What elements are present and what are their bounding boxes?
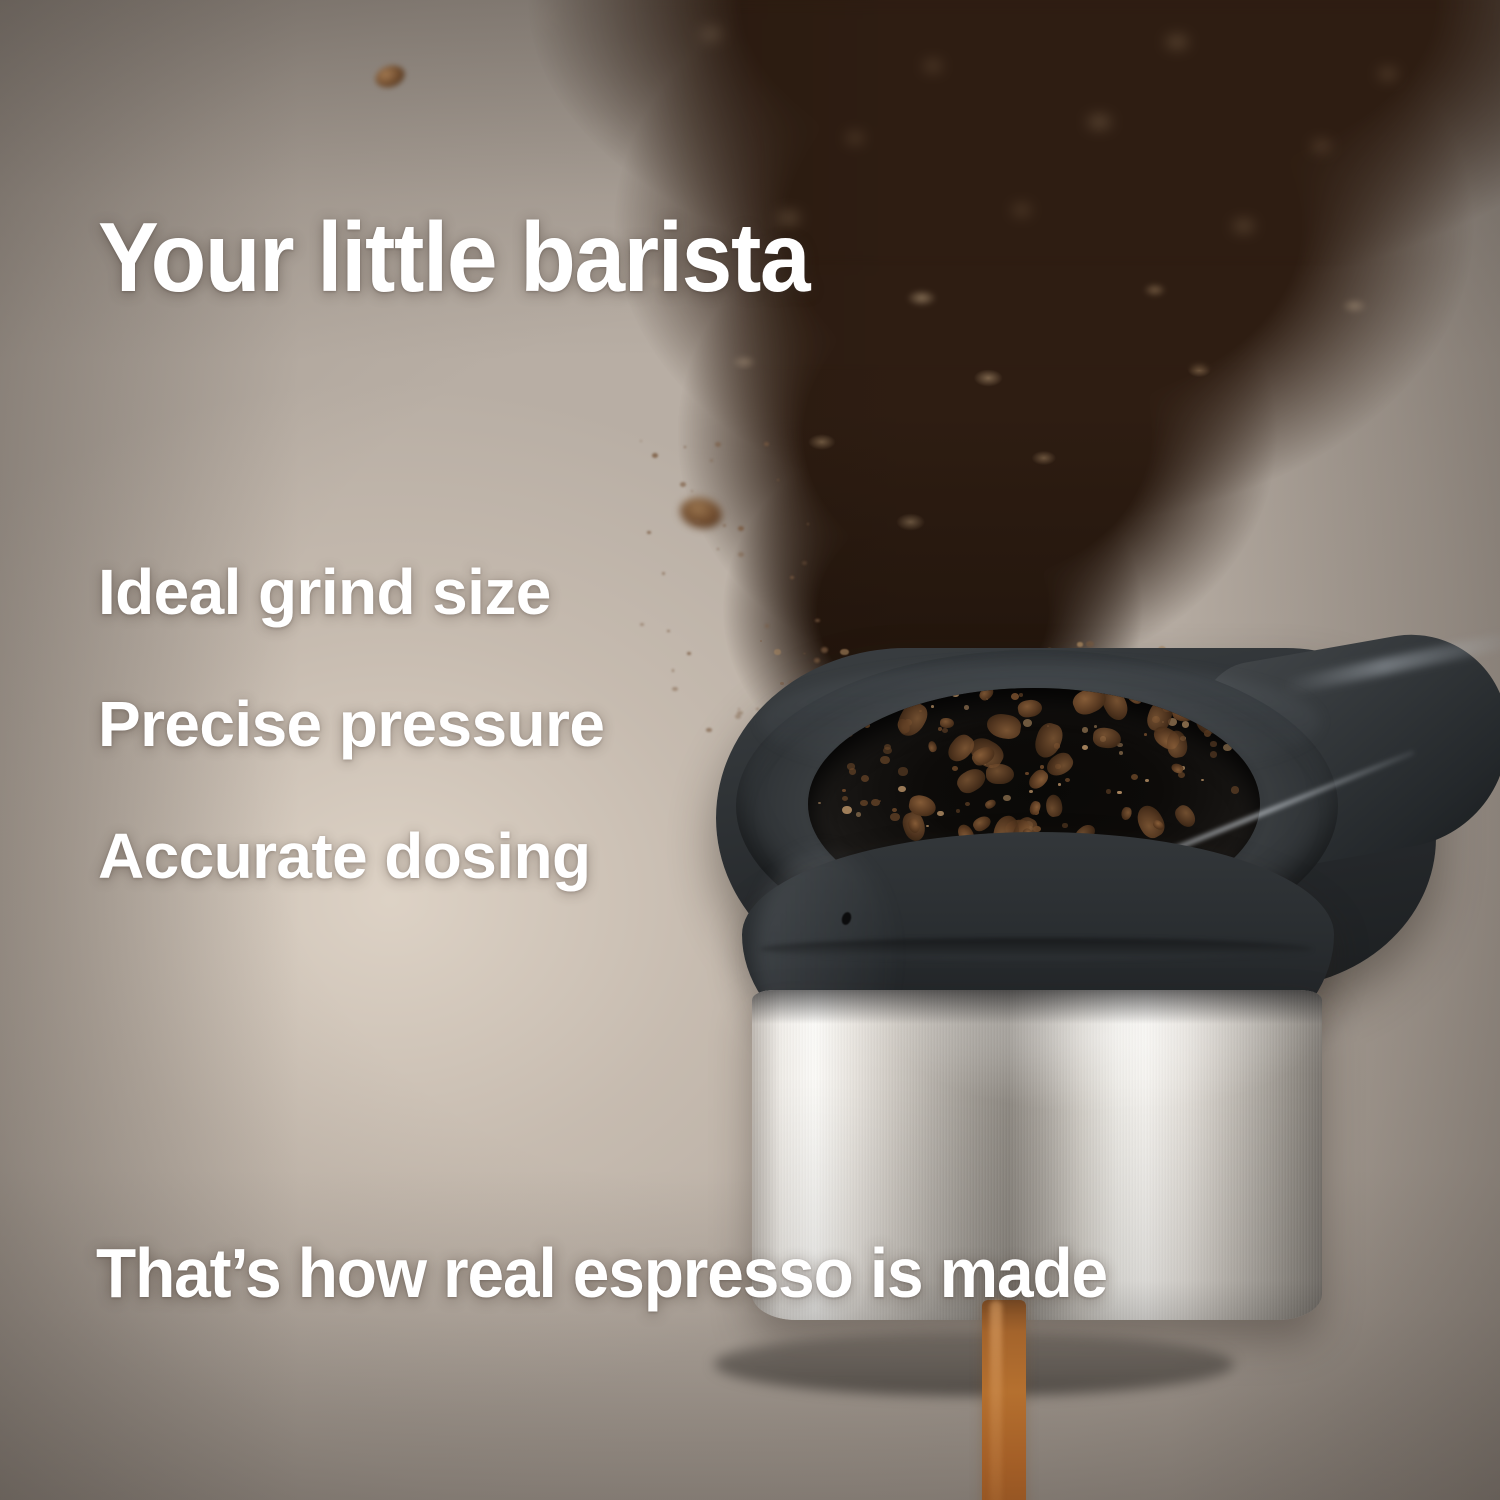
- cavity-ground-chunk: [1120, 807, 1132, 822]
- cavity-ground-chunk: [1044, 793, 1063, 817]
- feature-item-dosing: Accurate dosing: [98, 824, 818, 888]
- cavity-ground-particle: [1223, 744, 1232, 752]
- feature-list: Ideal grind size Precise pressure Accura…: [98, 560, 818, 888]
- cavity-ground-particle: [1242, 710, 1251, 718]
- page-title: Your little barista: [98, 208, 809, 306]
- cavity-ground-particle: [885, 700, 892, 706]
- cavity-ground-particle: [851, 717, 857, 722]
- cavity-ground-particle: [1182, 721, 1189, 727]
- cavity-ground-particle: [817, 736, 823, 741]
- cavity-ground-particle: [956, 809, 960, 813]
- cavity-ground-chunk: [953, 764, 989, 798]
- cavity-ground-particle: [904, 692, 911, 698]
- cavity-ground-particle: [1003, 795, 1010, 801]
- cavity-ground-particle: [871, 799, 880, 807]
- cavity-ground-chunk: [889, 688, 899, 695]
- cavity-ground-particle: [1117, 791, 1122, 795]
- cavity-ground-particle: [1082, 745, 1088, 750]
- cavity-ground-particle: [1025, 772, 1029, 775]
- product-feature-poster: Your little barista Ideal grind size Pre…: [0, 0, 1500, 1500]
- cavity-ground-particle: [1094, 725, 1098, 728]
- cavity-ground-particle: [1023, 719, 1032, 727]
- cavity-ground-particle: [842, 796, 848, 801]
- cavity-ground-particle: [1119, 751, 1124, 755]
- cavity-ground-particle: [1082, 727, 1088, 732]
- cavity-ground-particle: [1058, 783, 1061, 785]
- cavity-ground-particle: [892, 808, 897, 812]
- cavity-ground-particle: [942, 728, 948, 733]
- cavity-ground-particle: [1011, 693, 1020, 700]
- cavity-ground-particle: [931, 705, 935, 708]
- cavity-ground-chunk: [971, 813, 993, 834]
- cavity-ground-chunk: [1170, 762, 1184, 774]
- cavity-ground-particle: [1065, 778, 1070, 782]
- cavity-ground-particle: [1019, 693, 1024, 697]
- cavity-ground-chunk: [986, 711, 1023, 740]
- cavity-ground-particle: [861, 775, 869, 782]
- cavity-ground-particle: [1106, 789, 1112, 794]
- skirt-groove: [760, 938, 1312, 960]
- cavity-ground-chunk: [927, 741, 938, 753]
- cavity-ground-particle: [1231, 786, 1240, 793]
- espresso-pour-stream: [982, 1300, 1026, 1500]
- cavity-ground-particle: [1210, 751, 1218, 757]
- cavity-ground-particle: [818, 802, 821, 805]
- cavity-ground-chunk: [940, 718, 954, 728]
- cavity-ground-particle: [1131, 774, 1138, 780]
- cavity-ground-particle: [1201, 779, 1204, 781]
- cavity-ground-particle: [900, 704, 903, 706]
- cavity-ground-chunk: [1157, 688, 1171, 700]
- cavity-ground-particle: [1227, 738, 1233, 743]
- cavity-ground-particle: [880, 756, 890, 764]
- cavity-ground-chunk: [1132, 802, 1169, 842]
- cavity-ground-chunk: [1028, 800, 1042, 816]
- cavity-ground-particle: [898, 786, 905, 792]
- cavity-ground-particle: [952, 692, 958, 697]
- cavity-ground-particle: [1062, 823, 1067, 828]
- cavity-ground-chunk: [986, 764, 1015, 785]
- basket-bottom-curve: [714, 1332, 1234, 1396]
- basket-top-shadow: [752, 990, 1322, 1024]
- feature-item-grind-size: Ideal grind size: [98, 560, 818, 624]
- tagline: That’s how real espresso is made: [96, 1238, 1107, 1308]
- cavity-ground-particle: [847, 763, 854, 769]
- cavity-ground-particle: [844, 730, 853, 738]
- cavity-ground-chunk: [1070, 688, 1110, 719]
- cavity-ground-particle: [864, 723, 870, 728]
- cavity-ground-particle: [937, 811, 943, 816]
- cavity-ground-chunk: [1092, 726, 1121, 748]
- cavity-ground-chunk: [983, 798, 997, 811]
- cavity-ground-chunk: [1124, 688, 1145, 706]
- cavity-ground-particle: [884, 744, 891, 750]
- cavity-ground-particle: [864, 701, 870, 706]
- cavity-ground-particle: [854, 690, 857, 692]
- cavity-ground-particle: [952, 766, 958, 771]
- cavity-ground-particle: [898, 767, 908, 775]
- cavity-ground-particle: [892, 696, 899, 702]
- cavity-ground-chunk: [1172, 802, 1200, 831]
- cavity-ground-chunk: [978, 688, 997, 703]
- cavity-ground-particle: [1029, 790, 1033, 793]
- cavity-ground-particle: [1144, 733, 1148, 736]
- cavity-ground-particle: [1145, 779, 1149, 782]
- cavity-ground-chunk: [893, 699, 931, 741]
- cavity-ground-particle: [856, 812, 861, 817]
- cavity-ground-chunk: [1017, 698, 1043, 719]
- feature-item-pressure: Precise pressure: [98, 692, 818, 756]
- cavity-ground-particle: [964, 705, 969, 710]
- cavity-ground-particle: [1040, 765, 1044, 769]
- cavity-ground-particle: [839, 715, 845, 720]
- cavity-ground-particle: [842, 806, 852, 814]
- cavity-ground-particle: [860, 800, 867, 806]
- cavity-ground-particle: [890, 813, 899, 821]
- cavity-ground-particle: [926, 825, 929, 827]
- cavity-ground-particle: [1210, 741, 1216, 746]
- cavity-ground-particle: [1257, 859, 1260, 865]
- cavity-ground-particle: [842, 789, 846, 792]
- espresso-stream-highlight: [990, 1300, 1002, 1500]
- cavity-ground-particle: [965, 802, 970, 806]
